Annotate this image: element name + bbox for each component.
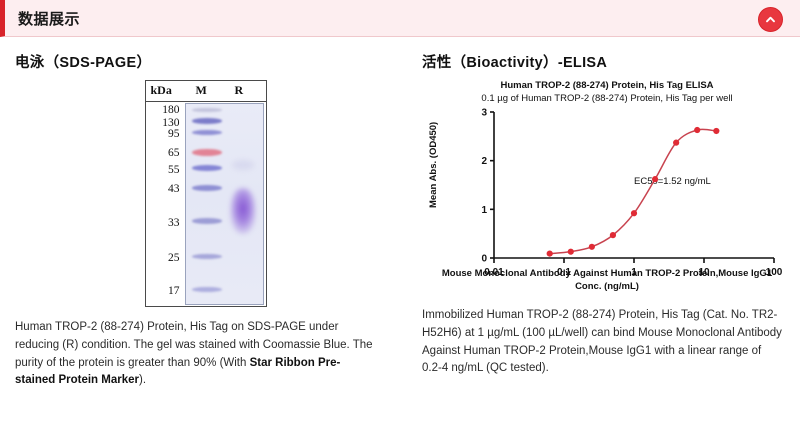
ladder-label: 180 (162, 105, 179, 117)
marker-band-95 (192, 130, 222, 135)
svg-text:0.01: 0.01 (484, 267, 504, 278)
ladder-label: 43 (168, 184, 180, 196)
page-title: 数据展示 (5, 8, 80, 29)
svg-text:3: 3 (481, 108, 487, 119)
ladder-label: 55 (168, 165, 180, 177)
gel-lanes (185, 103, 264, 305)
marker-band-65 (192, 149, 222, 156)
svg-text:2: 2 (481, 156, 487, 167)
bioactivity-caption: Immobilized Human TROP-2 (88-274) Protei… (422, 307, 782, 378)
marker-band-43 (192, 185, 222, 191)
svg-text:10: 10 (698, 267, 710, 278)
svg-text:100: 100 (766, 267, 783, 278)
gel-column-headers: kDa M R (146, 81, 266, 102)
bioactivity-panel: 活性（Bioactivity）-ELISA Human TROP-2 (88-2… (410, 37, 800, 390)
chart-plot-svg: 01230.010.1110100 (422, 80, 792, 295)
gel-header-sample-lane: R (235, 83, 244, 98)
svg-text:1: 1 (631, 267, 637, 278)
ladder-label: 17 (168, 286, 180, 298)
ladder-label: 33 (168, 218, 180, 230)
marker-band-180 (192, 108, 222, 112)
bioactivity-heading: 活性（Bioactivity）-ELISA (422, 51, 790, 72)
marker-band-25 (192, 254, 222, 259)
sample-band-main (230, 188, 256, 234)
svg-text:0: 0 (481, 254, 487, 265)
marker-band-33 (192, 218, 222, 224)
gel-header-marker-lane: M (196, 83, 207, 98)
ladder-label: 95 (168, 129, 180, 141)
ladder-label: 65 (168, 148, 180, 160)
marker-band-55 (192, 165, 222, 171)
sds-page-panel: 电泳（SDS-PAGE） kDa M R 180 130 95 65 55 43… (0, 37, 410, 390)
marker-band-130 (192, 118, 222, 124)
svg-text:0.1: 0.1 (557, 267, 571, 278)
ladder-label: 25 (168, 253, 180, 265)
gel-figure: kDa M R 180 130 95 65 55 43 33 25 17 (15, 80, 396, 307)
sample-band-faint (232, 160, 254, 170)
chevron-up-icon (764, 13, 777, 26)
collapse-panel-button[interactable] (758, 7, 783, 32)
elisa-chart: Human TROP-2 (88-274) Protein, His Tag E… (422, 80, 792, 295)
gel-image: kDa M R 180 130 95 65 55 43 33 25 17 (145, 80, 267, 307)
svg-text:1: 1 (481, 205, 487, 216)
panel-header: 数据展示 (0, 0, 800, 37)
marker-band-17 (192, 287, 222, 292)
caption-text-part2: ). (139, 374, 146, 386)
sds-page-heading: 电泳（SDS-PAGE） (15, 51, 396, 72)
gel-header-kda: kDa (151, 83, 172, 98)
gel-ladder-labels: 180 130 95 65 55 43 33 25 17 (146, 101, 184, 307)
content-area: 电泳（SDS-PAGE） kDa M R 180 130 95 65 55 43… (0, 37, 800, 390)
sds-page-caption: Human TROP-2 (88-274) Protein, His Tag o… (15, 319, 377, 390)
